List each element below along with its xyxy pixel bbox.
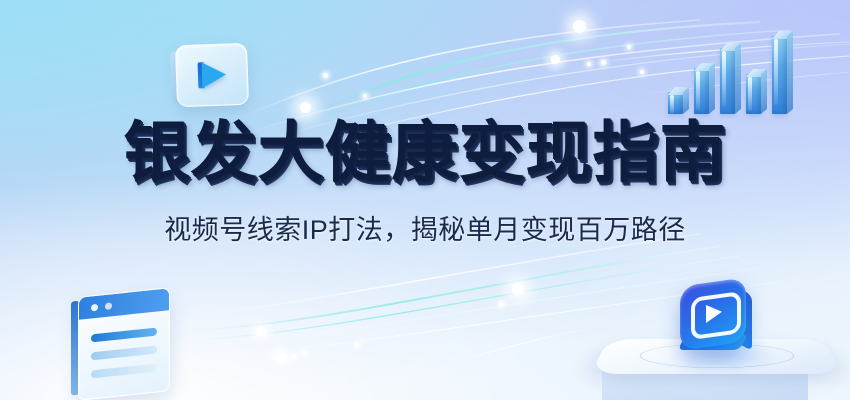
page-title: 银发大健康变现指南 (0, 118, 850, 188)
window-body (78, 287, 170, 400)
browser-window-decor (78, 287, 170, 400)
play-icon (202, 62, 227, 89)
glow-dot (363, 94, 367, 98)
glow-dot (640, 70, 644, 74)
bar-shine (670, 95, 674, 114)
bar-shine (748, 77, 752, 111)
glow-dot (300, 102, 311, 113)
glow-dot (573, 20, 586, 33)
chart-bar (772, 36, 787, 114)
chart-bar (668, 92, 683, 114)
glow-dot (551, 55, 560, 64)
glow-dot (627, 45, 631, 49)
glow-dot (292, 355, 296, 359)
glow-dot (256, 327, 266, 337)
glow-dot (355, 343, 359, 347)
chart-bar (694, 68, 709, 114)
glow-dot (323, 73, 328, 78)
window-content-line (91, 364, 157, 379)
glow-dot (499, 302, 504, 307)
bar-shine (696, 71, 700, 110)
video-play-icon (672, 278, 764, 360)
bar-shine (774, 39, 778, 105)
play-triangle-icon (706, 303, 722, 323)
glow-dot (512, 283, 524, 295)
bar-shine (722, 51, 726, 107)
glow-dot (276, 353, 286, 363)
chart-bar (746, 74, 761, 114)
glow-dot (587, 62, 591, 66)
glow-dot (303, 351, 307, 355)
page-subtitle: 视频号线索IP打法，揭秘单月变现百万路径 (0, 208, 850, 247)
bar-chart-decor (668, 30, 788, 114)
promo-banner: 银发大健康变现指南 视频号线索IP打法，揭秘单月变现百万路径 (0, 0, 850, 400)
text-block: 银发大健康变现指南 视频号线索IP打法，揭秘单月变现百万路径 (0, 118, 850, 247)
play-card-decor (175, 43, 249, 107)
video-icon-face (680, 277, 746, 350)
chart-bar (720, 48, 735, 114)
window-content-line (91, 346, 157, 361)
glow-dot (601, 60, 606, 65)
window-content-line (91, 328, 157, 343)
